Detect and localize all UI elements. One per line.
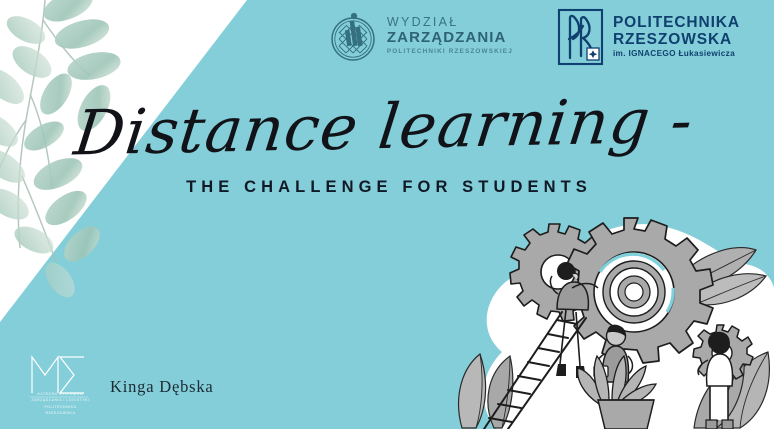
potted-plant [578,356,656,429]
leaves [459,354,513,428]
logo-pr-line1: POLITECHNIKA [613,15,740,32]
logo-wz-line3: POLITECHNIKI RZESZOWSKIEJ [387,49,513,56]
logo-wz-line1: WYDZIAŁ [387,16,513,29]
monogram-caption-line3: POLITECHNIKA RZESZOWSKA [29,404,92,417]
author-monogram: KATEDRA SYSTEMÓW ZARZĄDZANIA I LOGISTYKI… [26,349,92,411]
pr-monogram-icon [557,8,604,66]
person-with-gear [698,332,733,429]
ladder [484,312,586,429]
logo-pr-line3: im. IGNACEGO Łukasiewicza [613,50,740,59]
presentation-title-slide: WYDZIAŁ ZARZĄDZANIA POLITECHNIKI RZESZOW… [0,0,774,429]
logo-politechnika-rzeszowska: POLITECHNIKA RZESZOWSKA im. IGNACEGO Łuk… [557,8,740,66]
page-subtitle: THE CHALLENGE FOR STUDENTS [4,178,774,197]
gears-teamwork-illustration [444,214,774,429]
circular-lattice-emblem-icon [328,8,378,64]
author-name: Kinga Dębska [110,377,214,411]
logo-wz-line2: ZARZĄDZANIA [387,30,513,46]
logo-wydzial-text: WYDZIAŁ ZARZĄDZANIA POLITECHNIKI RZESZOW… [387,16,513,55]
medium-gear [510,224,609,321]
logo-politechnika-text: POLITECHNIKA RZESZOWSKA im. IGNACEGO Łuk… [613,15,740,59]
leaves-top-right [674,248,766,305]
person-standing [594,325,633,429]
monogram-caption: KATEDRA SYSTEMÓW ZARZĄDZANIA I LOGISTYKI… [29,391,92,416]
logo-pr-line2: RZESZOWSKA [613,32,740,49]
logo-bar: WYDZIAŁ ZARZĄDZANIA POLITECHNIKI RZESZOW… [0,8,774,80]
small-gear [693,325,753,381]
author-block: KATEDRA SYSTEMÓW ZARZĄDZANIA I LOGISTYKI… [26,349,214,411]
person-on-ladder [550,262,598,378]
white-blob-background [483,224,774,429]
logo-wydzial-zarzadzania: WYDZIAŁ ZARZĄDZANIA POLITECHNIKI RZESZOW… [328,8,513,64]
leaves-bottom-right [694,352,769,428]
large-gear [565,218,713,363]
monogram-caption-line2: ZARZĄDZANIA I LOGISTYKI [29,397,92,403]
